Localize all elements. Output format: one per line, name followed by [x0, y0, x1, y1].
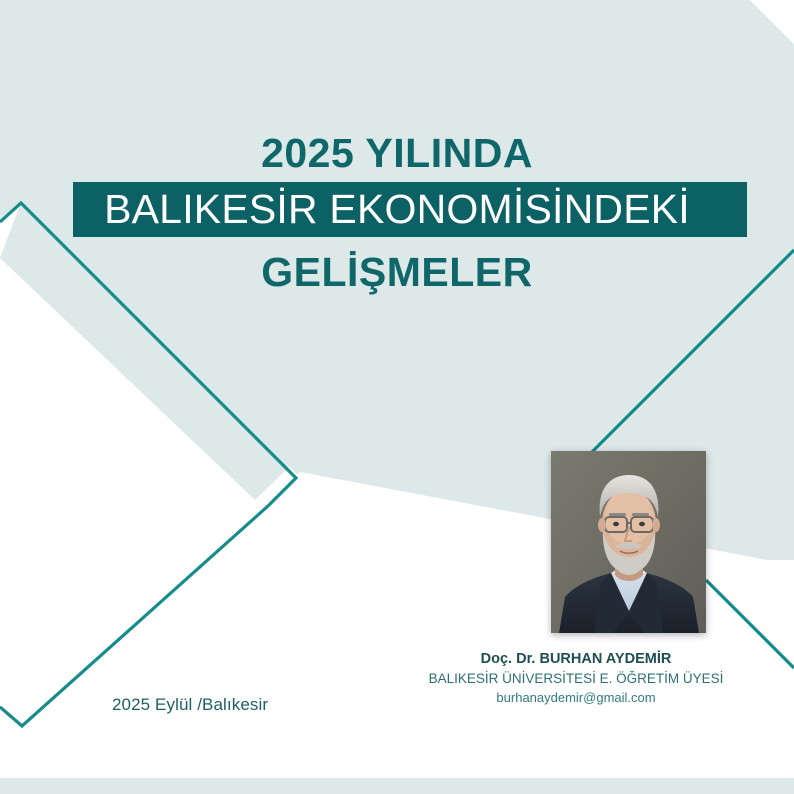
- portrait-illustration: [551, 451, 706, 633]
- author-email: burhanaydemir@gmail.com: [400, 688, 752, 707]
- author-credit-block: Doç. Dr. BURHAN AYDEMİR BALIKESİR ÜNİVER…: [400, 650, 752, 707]
- presentation-title-slide: 2025 YILINDA BALIKESİR EKONOMİSİNDEKİ GE…: [0, 0, 794, 794]
- date-and-place: 2025 Eylül /Balıkesir: [112, 695, 268, 715]
- bottom-accent-strip: [0, 778, 794, 794]
- author-portrait-photo: [551, 451, 706, 633]
- title-line-main: BALIKESİR EKONOMİSİNDEKİ: [0, 182, 794, 237]
- title-banner: BALIKESİR EKONOMİSİNDEKİ: [0, 182, 794, 240]
- author-name: Doç. Dr. BURHAN AYDEMİR: [400, 650, 752, 669]
- title-line-subject: GELİŞMELER: [0, 246, 794, 298]
- title-line-year: 2025 YILINDA: [0, 128, 794, 178]
- slide-title-group: 2025 YILINDA BALIKESİR EKONOMİSİNDEKİ GE…: [0, 128, 794, 298]
- author-affiliation: BALIKESİR ÜNİVERSİTESİ E. ÖĞRETİM ÜYESİ: [400, 669, 752, 688]
